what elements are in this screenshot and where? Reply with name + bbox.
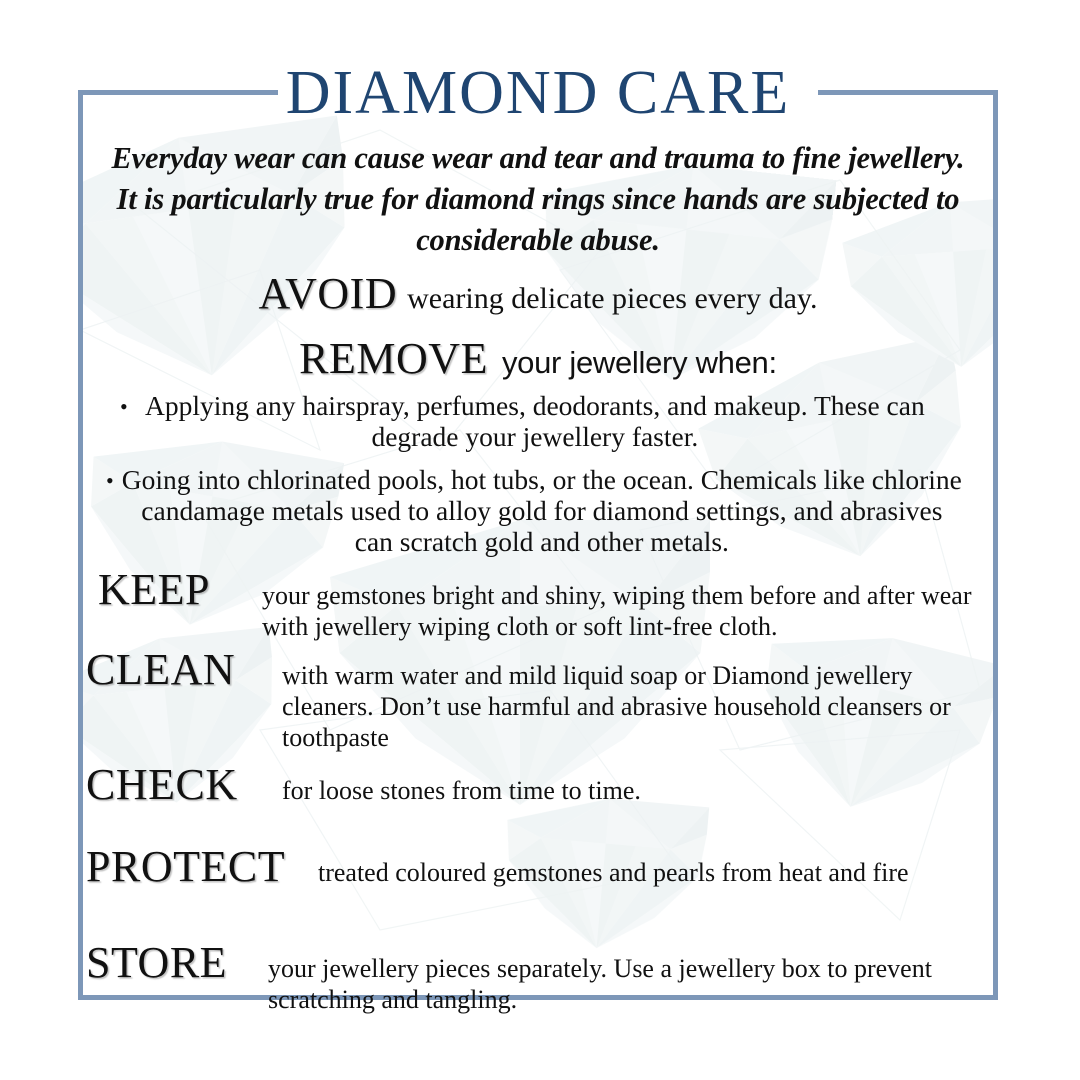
diamond-care-poster: DIAMOND CARE Everyday wear can cause wea… xyxy=(0,0,1080,1080)
remove-headword: REMOVE xyxy=(299,334,488,383)
list-item: • Applying any hairspray, perfumes, deod… xyxy=(106,390,972,452)
page-title: DIAMOND CARE xyxy=(78,58,998,128)
intro-paragraph: Everyday wear can cause wear and tear an… xyxy=(100,138,976,261)
remove-text: your jewellery when: xyxy=(488,345,777,380)
check-headword: CHECK xyxy=(86,759,282,810)
avoid-text: wearing delicate pieces every day. xyxy=(397,282,817,315)
keep-headword: KEEP xyxy=(98,564,262,615)
clean-text: with warm water and mild liquid soap or … xyxy=(282,660,986,753)
avoid-headword: AVOID xyxy=(259,269,398,318)
store-text: your jewellery pieces separately. Use a … xyxy=(268,953,986,1015)
bullet-icon: • xyxy=(106,464,120,496)
bullet-text: Applying any hairspray, perfumes, deodor… xyxy=(134,390,936,452)
store-section: STORE your jewellery pieces separately. … xyxy=(86,937,986,1015)
remove-section: REMOVEyour jewellery when: xyxy=(78,333,998,384)
avoid-section: AVOIDwearing delicate pieces every day. xyxy=(78,268,998,319)
store-headword: STORE xyxy=(86,937,268,988)
clean-headword: CLEAN xyxy=(86,644,282,695)
protect-text: treated coloured gemstones and pearls fr… xyxy=(318,857,986,888)
protect-headword: PROTECT xyxy=(86,841,318,892)
check-section: CHECK for loose stones from time to time… xyxy=(86,759,986,810)
remove-bullet-list: • Applying any hairspray, perfumes, deod… xyxy=(106,390,972,569)
poster-content: DIAMOND CARE Everyday wear can cause wea… xyxy=(78,90,998,1000)
list-item: • Going into chlorinated pools, hot tubs… xyxy=(106,464,972,557)
check-text: for loose stones from time to time. xyxy=(282,775,986,806)
keep-section: KEEP your gemstones bright and shiny, wi… xyxy=(98,564,988,642)
keep-text: your gemstones bright and shiny, wiping … xyxy=(262,580,988,642)
clean-section: CLEAN with warm water and mild liquid so… xyxy=(86,644,986,753)
protect-section: PROTECT treated coloured gemstones and p… xyxy=(86,841,986,892)
bullet-icon: • xyxy=(120,390,134,422)
bullet-text: Going into chlorinated pools, hot tubs, … xyxy=(120,464,964,557)
